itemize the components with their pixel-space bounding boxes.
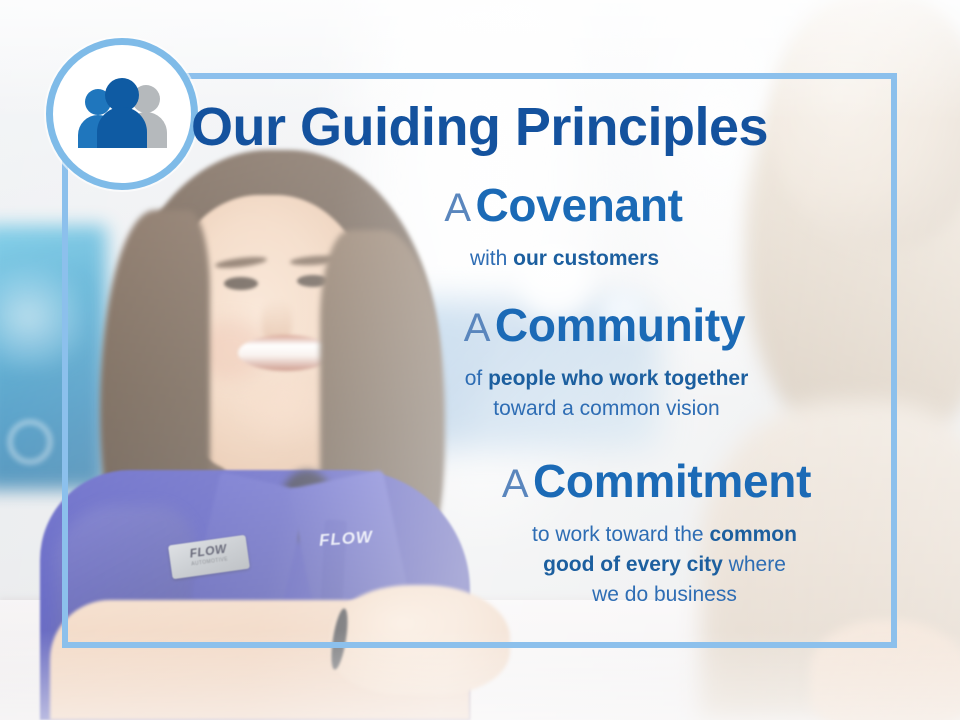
principle-heading: A Commitment — [220, 454, 897, 520]
principle-keyword: Commitment — [533, 455, 811, 507]
principle-commitment: A Commitment to work toward the common g… — [220, 454, 897, 610]
principle-community: A Community of people who work together … — [220, 298, 897, 424]
principle-article: A — [502, 462, 529, 506]
page-title: Our Guiding Principles — [62, 96, 897, 158]
principle-line: we do business — [220, 580, 897, 610]
principle-heading: A Community — [220, 298, 897, 364]
principle-line: good of every city where — [220, 550, 897, 580]
principle-article: A — [464, 306, 491, 350]
principle-keyword: Covenant — [475, 179, 682, 231]
guiding-principles-graphic: FLOW FLOW AUTOMOTIVE — [0, 0, 960, 720]
bottom-fade-overlay — [0, 630, 960, 720]
principle-line: of people who work together — [220, 364, 897, 394]
principle-line: with our customers — [220, 244, 897, 274]
principles-list: A Covenant with our customers A Communit… — [220, 178, 897, 622]
principle-heading: A Covenant — [220, 178, 897, 244]
principle-line: toward a common vision — [220, 394, 897, 424]
principle-article: A — [444, 186, 471, 230]
principle-keyword: Community — [495, 299, 745, 351]
principle-line: to work toward the common — [220, 520, 897, 550]
principle-covenant: A Covenant with our customers — [220, 178, 897, 274]
